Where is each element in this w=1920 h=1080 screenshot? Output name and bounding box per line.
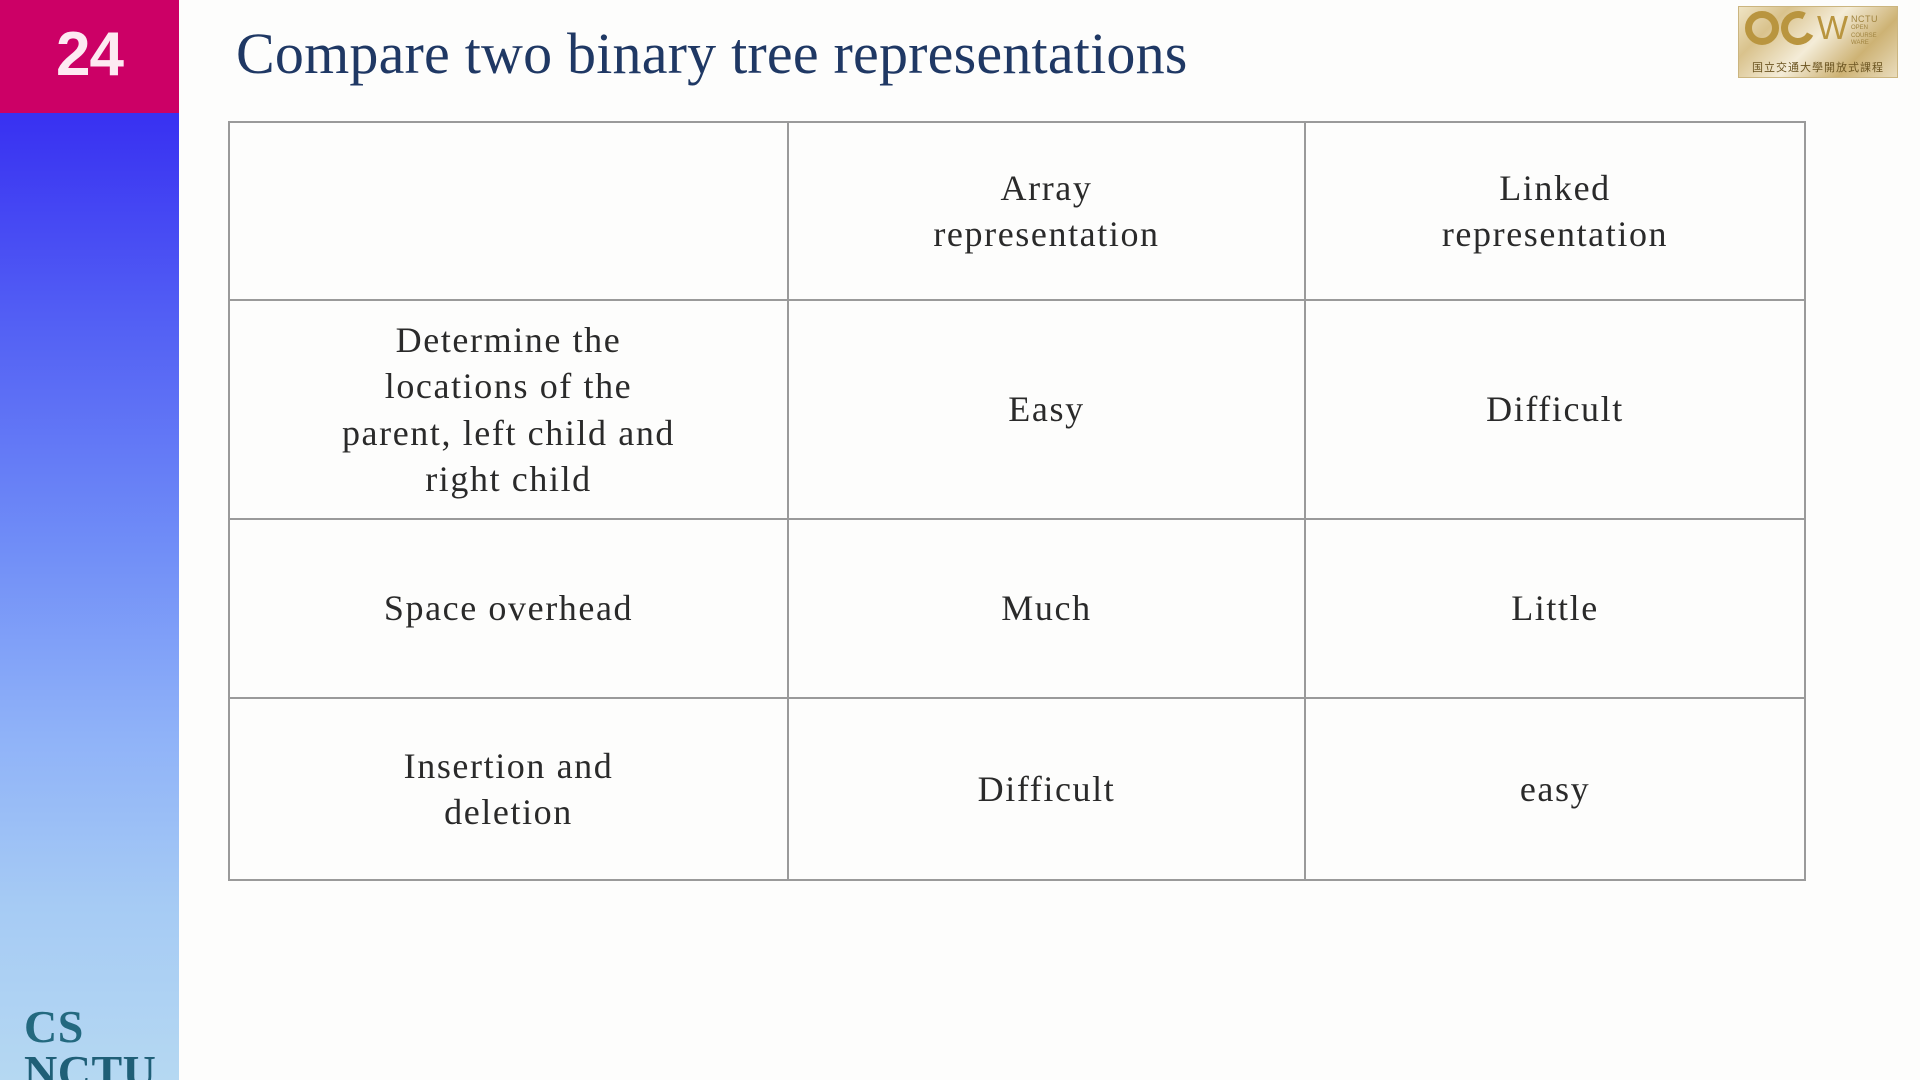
footer-brand: CS NCTU: [24, 1004, 156, 1080]
ocw-o-ring-icon: [1745, 11, 1779, 45]
row-locations-array-value: Easy: [788, 300, 1305, 519]
ocw-c-ring-icon: [1777, 7, 1820, 50]
row-insertion-linked-value: easy: [1305, 698, 1805, 880]
table-header-array: Array representation: [788, 122, 1305, 300]
ocw-logo-mark-line1: NCTU: [1851, 14, 1891, 25]
comparison-table: Array representation Linked representati…: [228, 121, 1806, 881]
table-row: Determine the locations of the parent, l…: [229, 300, 1805, 519]
row-locations-linked-value: Difficult: [1305, 300, 1805, 519]
table-row: Insertion and deletion Difficult easy: [229, 698, 1805, 880]
slide-title: Compare two binary tree representations: [236, 24, 1636, 85]
row-label-insertion-deletion: Insertion and deletion: [229, 698, 788, 880]
slide-number: 24: [56, 24, 123, 90]
slide-canvas: 24 CS NCTU Compare two binary tree repre…: [0, 0, 1920, 1080]
table-header-linked: Linked representation: [1305, 122, 1805, 300]
row-insertion-array-value: Difficult: [788, 698, 1305, 880]
ocw-logo-caption: 国立交通大學開放式課程: [1739, 59, 1897, 75]
slide-side-rail: [0, 0, 179, 1080]
table-header-row: Array representation Linked representati…: [229, 122, 1805, 300]
ocw-w-letter: W: [1817, 13, 1846, 43]
slide-number-badge: 24: [0, 0, 179, 113]
footer-brand-line-nctu: NCTU: [24, 1049, 156, 1080]
ocw-logo: W NCTU OPEN COURSE WARE 国立交通大學開放式課程: [1738, 6, 1898, 78]
footer-brand-line-cs: CS: [24, 1004, 156, 1049]
row-label-space-overhead: Space overhead: [229, 519, 788, 698]
ocw-logo-mark-line2: OPEN COURSE WARE: [1851, 25, 1891, 48]
ocw-logo-glyphs: W: [1745, 11, 1846, 45]
row-space-linked-value: Little: [1305, 519, 1805, 698]
table-row: Space overhead Much Little: [229, 519, 1805, 698]
row-label-locations: Determine the locations of the parent, l…: [229, 300, 788, 519]
row-space-array-value: Much: [788, 519, 1305, 698]
ocw-logo-sidemark: NCTU OPEN COURSE WARE: [1851, 14, 1891, 48]
table-header-blank: [229, 122, 788, 300]
